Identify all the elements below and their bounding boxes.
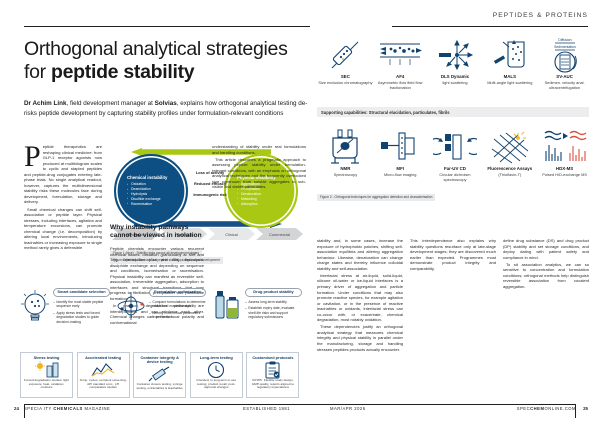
lightbulb-icon	[20, 288, 50, 330]
drop-cap: P	[24, 144, 43, 169]
technique-desc: light scattering	[428, 80, 483, 85]
figure-techniques-bottom: NMR Spectroscopy MFI Micro-flow imaging	[318, 128, 592, 182]
title-line-2-pre: for	[24, 61, 51, 83]
byline-company: Solvias	[155, 100, 177, 107]
section-subhead: Why instability pathways cannot be viewe…	[110, 224, 206, 239]
panel-drug-product-stability: Drug product stability Assess long-term …	[212, 288, 302, 330]
technique-fluorescence: Fluorescence Assays (Thioflavin-T)	[482, 128, 537, 182]
mfi-flowcell-icon	[373, 128, 428, 166]
panel-title: Smart candidate selection	[53, 288, 110, 297]
list-item: Identify most critical parameters from t…	[149, 311, 206, 320]
col-d-para-2: Interfacial stress at air-liquid, solid-…	[317, 273, 403, 323]
technique-desc: Size exclusion chromatography	[318, 80, 373, 85]
technique-desc: Circular dichroism spectroscopy	[428, 172, 483, 182]
consequence-3: Immunogenic risk	[192, 192, 228, 197]
box-title: Stress testing	[34, 356, 60, 361]
box-desc: Temp. cycles, excipient screening, API s…	[80, 379, 127, 391]
technique-name: AF4	[373, 74, 428, 79]
footer-website: SPECCHEMONLINE.COM	[517, 406, 576, 411]
header-rule-right	[392, 26, 588, 27]
panel-title: Formulation optimisation	[149, 288, 206, 297]
col-a-para-2: Small chemical changes can shift self-as…	[24, 207, 102, 251]
chemical-instability-circle: Chemical instability Oxidation Deamidati…	[114, 154, 188, 228]
technique-desc: Spectroscopy	[318, 172, 373, 177]
technique-af4: AF4 Asymmetric flow field flow fractiona…	[373, 36, 428, 90]
list-item: Adsorption	[237, 202, 293, 207]
box-long-term-testing: Long-term testing Intended, to long-term…	[190, 352, 243, 398]
technique-name: Fluorescence Assays	[482, 166, 537, 171]
supporting-capabilities-bar: Supporting capabilities: Structural eluc…	[317, 107, 589, 117]
nmr-magnet-icon	[318, 128, 373, 166]
box-title: Customised protocols	[252, 356, 293, 361]
list-item: Assess long-term stability	[245, 300, 302, 305]
technique-faruvcd: Far-UV CD Circular dichroism spectroscop…	[428, 128, 483, 182]
box-desc: Container closure testing, syringe testi…	[136, 383, 183, 391]
technique-dls: DLS Dynamic light scattering	[428, 36, 483, 90]
footer-rule	[24, 404, 576, 405]
col-c-para-1: understanding of stability under real fo…	[212, 144, 306, 155]
technique-hdxms: HDX-MS Pulsed H/D-exchange MS	[537, 128, 592, 182]
footer-established: ESTABLISHED 1981	[243, 406, 290, 411]
sun-vials-icon	[34, 362, 60, 378]
clock-icon	[207, 362, 225, 378]
col-e-para-1: This interdependence also explains why s…	[410, 238, 496, 271]
byline-author: Dr Achim Link	[24, 100, 66, 107]
page-number-left: 24	[14, 406, 19, 411]
technique-desc: Micro-flow imaging	[373, 172, 428, 177]
mals-cell-icon	[482, 36, 537, 74]
panel-formulation-optimisation: Formulation optimisation Compare formula…	[116, 288, 206, 330]
page-number-right: 25	[583, 406, 588, 411]
technique-mfi: MFI Micro-flow imaging	[373, 128, 428, 182]
box-accelerated-testing: Accelerated testing Temp. cycles, excipi…	[77, 352, 130, 398]
stage-clinical: Clinical	[208, 228, 255, 240]
technique-nmr: NMR Spectroscopy	[318, 128, 373, 182]
auc-rotor-icon: Diffusion Sedimentation	[537, 36, 592, 74]
section-kicker: PEPTIDES & PROTEINS	[493, 12, 588, 19]
fluorescence-fibril-icon	[482, 128, 537, 166]
panel-bullets: Assess long-term stability Establish exp…	[245, 300, 302, 320]
box-customised-protocols: Customised protocols ICH/Ph. Flexible st…	[246, 352, 299, 398]
technique-svauc: Diffusion Sedimentation SV-AUC Sedimen. …	[537, 36, 592, 90]
hdx-spectrum-icon	[537, 128, 592, 166]
footer-web-post: ONLINE.COM	[544, 406, 576, 411]
chart-line-icon	[90, 362, 116, 378]
study-type-boxes: Stress testing Forced degradation studie…	[20, 352, 302, 398]
footer-pub-bold: CHEMICALS	[53, 406, 82, 411]
technique-name: SV-AUC	[537, 74, 592, 79]
figure2-caption: Figure 2 - Orthogonal techniques for agg…	[317, 194, 435, 201]
box-title: Long-term testing	[200, 356, 233, 361]
technique-name: MFI	[373, 166, 428, 171]
box-desc: Intended, to long-term in-use testing, p…	[193, 379, 240, 391]
technique-name: DLS Dynamic	[428, 74, 483, 79]
col-d-para-1: stability and, in some cases, increase t…	[317, 238, 403, 271]
sec-column-icon	[318, 36, 373, 74]
technique-sec: SEC Size exclusion chromatography	[318, 36, 373, 90]
af4-channel-icon	[373, 36, 428, 74]
col-d-para-3: These dependencies justify an orthogonal…	[317, 324, 403, 352]
panel-title: Drug product stability	[245, 288, 302, 297]
footer-pub-pre: SPECIA ITY	[24, 406, 53, 411]
technique-mals: MALS Multi-angle light scattering	[482, 36, 537, 90]
technique-desc: Pulsed H/D-exchange MS	[537, 172, 592, 177]
magazine-spread: PEPTIDES & PROTEINS Orthogonal analytica…	[0, 0, 600, 424]
chemical-instability-list: Oxidation Deamidation Hydrolysis Disulfi…	[127, 182, 183, 207]
footer-web-bold: CHEM	[530, 406, 544, 411]
footer-pub-post: MAGAZINE	[83, 406, 111, 411]
panel-bullets: Compare formulations to determine which …	[149, 300, 206, 320]
list-item: Compare formulations to determine which …	[149, 300, 206, 309]
list-item: Apply stress tests and forced degradatio…	[53, 311, 110, 325]
col-c-para-2: This article describes a pragmatic appro…	[212, 157, 306, 190]
standfirst: Dr Achim Link, field development manager…	[24, 99, 309, 118]
title-line-2-bold: peptide stability	[51, 61, 194, 83]
body-column-e: This interdependence also explains why s…	[410, 238, 496, 273]
orbit-molecule-icon	[116, 288, 146, 330]
box-stress-testing: Stress testing Forced degradation studie…	[20, 352, 73, 398]
chemical-instability-title: Chemical instability	[127, 175, 183, 180]
list-item: Establish expiry date, evaluate shelf-li…	[245, 306, 302, 320]
list-item: Racemisation	[127, 202, 183, 207]
list-item: Identify the most stable peptide sequenc…	[53, 300, 110, 309]
syringe-icon	[148, 366, 172, 382]
technique-desc: Sedimen. velocity anal. ultracentrifugat…	[537, 80, 592, 90]
technique-name: Far-UV CD	[428, 166, 483, 171]
technique-desc: (Thioflavin-T)	[482, 172, 537, 177]
title-line-1: Orthogonal analytical strategies	[24, 38, 288, 60]
technique-name: MALS	[482, 74, 537, 79]
box-title: Container integrity & device testing	[136, 356, 183, 365]
page-title: Orthogonal analytical strategies for pep…	[24, 38, 324, 84]
body-column-a: Peptide therapeutics are reshaping clini…	[24, 144, 102, 253]
cd-rotation-icon	[428, 128, 483, 166]
footer-web-pre: SPEC	[517, 406, 530, 411]
box-desc: ICH/Ph. Flexible study design, GMP quali…	[249, 379, 296, 391]
footer-publication: SPECIA ITY CHEMICALS MAGAZINE	[24, 406, 110, 411]
box-container-integrity: Container integrity & device testing Con…	[133, 352, 186, 398]
body-column-d: stability and, in some cases, increase t…	[317, 238, 403, 354]
byline-mid: , field development manager at	[66, 100, 154, 107]
box-desc: Forced degradation studies: light exposu…	[23, 379, 70, 391]
panel-smart-candidate-selection: Smart candidate selection Identify the m…	[20, 288, 110, 330]
dls-scatter-icon	[428, 36, 483, 74]
figure-techniques-top: SEC Size exclusion chromatography	[318, 36, 592, 90]
panel-bullets: Identify the most stable peptide sequenc…	[53, 300, 110, 325]
col-f-para-2: To sit association analytics, we can so …	[503, 262, 589, 290]
syringe-vial-icon	[212, 288, 242, 330]
clipboard-check-icon	[264, 362, 281, 378]
technique-name: HDX-MS	[537, 166, 592, 171]
technique-name: NMR	[318, 166, 373, 171]
footer-issue-date: MAR/APR 2026	[330, 406, 366, 411]
svg-text:Diffusion: Diffusion	[558, 38, 571, 42]
technique-desc: Multi-angle light scattering	[482, 80, 537, 85]
technique-desc: Asymmetric flow field flow fractionation	[373, 80, 428, 90]
decision-panels: Smart candidate selection Identify the m…	[20, 288, 302, 330]
svg-text:Sedimentation: Sedimentation	[554, 45, 576, 49]
header-rule-left	[24, 26, 310, 27]
technique-name: SEC	[318, 74, 373, 79]
col-f-para-1: define drug substance (DS) and drug prod…	[503, 238, 589, 260]
stage-commercial: Commercial	[256, 228, 303, 240]
body-column-f: define drug substance (DS) and drug prod…	[503, 238, 589, 291]
box-title: Accelerated testing	[85, 356, 121, 361]
body-column-c: understanding of stability under real fo…	[212, 144, 306, 192]
